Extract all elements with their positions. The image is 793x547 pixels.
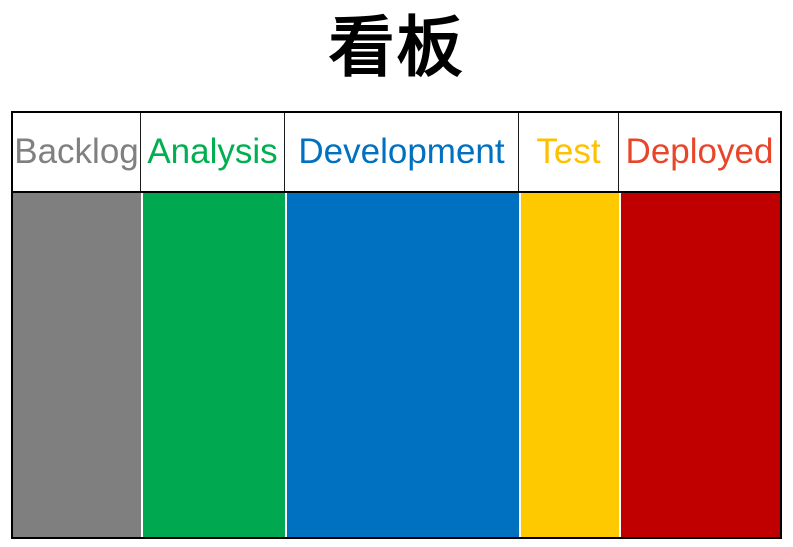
page-title: 看板 [0,8,793,88]
column-header-analysis[interactable]: Analysis [141,113,285,191]
column-body-analysis[interactable] [141,193,285,537]
column-fill-deployed [621,193,780,537]
column-body-deployed[interactable] [619,193,780,537]
column-header-development[interactable]: Development [285,113,519,191]
column-header-label-backlog: Backlog [14,132,139,172]
column-body-test[interactable] [519,193,619,537]
column-header-label-development: Development [298,132,504,172]
column-header-deployed[interactable]: Deployed [619,113,780,191]
column-header-backlog[interactable]: Backlog [13,113,141,191]
column-fill-analysis [143,193,285,537]
column-header-label-analysis: Analysis [147,132,277,172]
kanban-page: 看板 Backlog Analysis Development Test Dep… [0,0,793,547]
kanban-board: Backlog Analysis Development Test Deploy… [11,111,782,539]
column-fill-backlog [13,193,141,537]
board-header-row: Backlog Analysis Development Test Deploy… [13,113,780,193]
column-body-development[interactable] [285,193,519,537]
column-header-label-test: Test [536,132,600,172]
column-body-backlog[interactable] [13,193,141,537]
column-fill-test [521,193,619,537]
column-fill-development [287,193,519,537]
board-body-row [13,193,780,537]
column-header-label-deployed: Deployed [626,132,774,172]
column-header-test[interactable]: Test [519,113,619,191]
